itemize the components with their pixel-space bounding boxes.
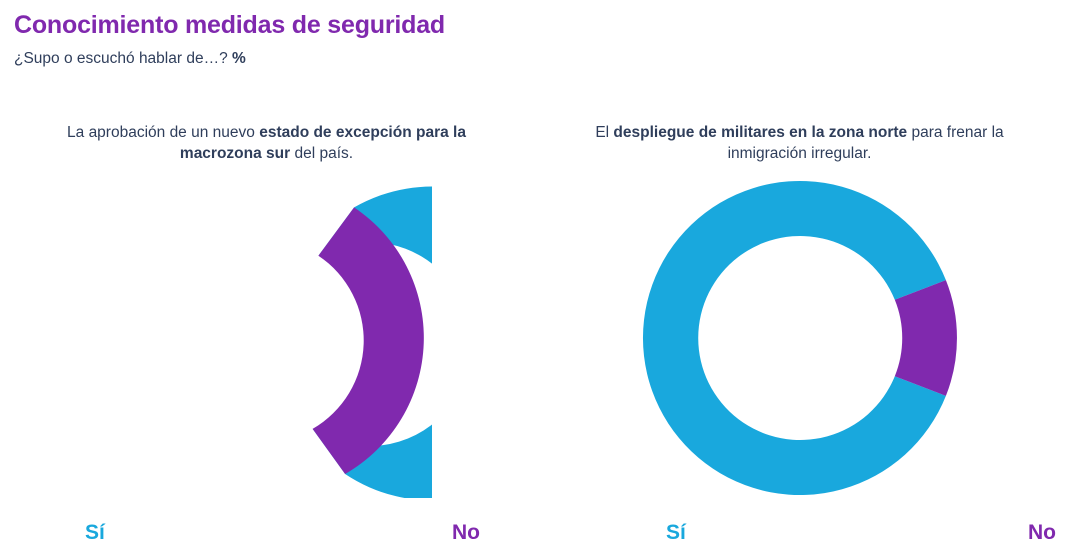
slice-value-no: 12%	[973, 523, 1015, 544]
slice-label-si: Sí	[85, 522, 105, 543]
page-title: Conocimiento medidas de seguridad	[14, 10, 1054, 40]
chart-panel-estado-de-excepcion: La aprobación de un nuevo estado de exce…	[0, 112, 533, 508]
page-subtitle-text: ¿Supo o escuchó hablar de…?	[14, 50, 232, 67]
slice-label-no: No	[452, 522, 480, 543]
chart-caption: La aprobación de un nuevo estado de exce…	[57, 122, 477, 164]
slice-value-si: 66%	[127, 523, 169, 544]
slice-label-no: No	[1028, 522, 1056, 543]
donut-svg	[102, 178, 432, 498]
caption-tail: del país.	[290, 145, 353, 162]
chart-caption: El despliegue de militares en la zona no…	[590, 122, 1010, 164]
header: Conocimiento medidas de seguridad ¿Supo …	[14, 10, 1054, 69]
caption-lead: La aprobación de un nuevo	[67, 124, 259, 141]
slice-label-si: Sí	[666, 522, 686, 543]
page-subtitle: ¿Supo o escuchó hablar de…? %	[14, 49, 1054, 69]
caption-lead: El	[595, 124, 613, 141]
charts-row: La aprobación de un nuevo estado de exce…	[0, 112, 1066, 508]
donut-slice-si[interactable]	[642, 181, 945, 495]
slice-value-no: 34%	[396, 523, 438, 544]
donut-svg	[635, 178, 965, 498]
chart-panel-despliegue-militares: El despliegue de militares en la zona no…	[533, 112, 1066, 508]
donut-slice-no[interactable]	[894, 280, 956, 396]
donut-chart-left: Sí 66% 34% No	[0, 178, 533, 508]
caption-emphasis: despliegue de militares en la zona norte	[613, 124, 907, 141]
page-subtitle-unit: %	[232, 50, 246, 67]
slice-value-si: 88%	[708, 523, 750, 544]
donut-chart-right: Sí 88% 12% No	[533, 178, 1066, 508]
